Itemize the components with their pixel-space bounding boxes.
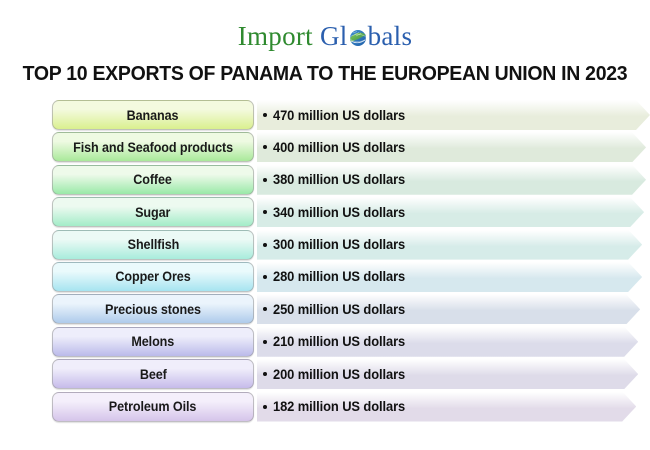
logo-word-import: Import [238, 23, 313, 50]
logo-text: ImportGlbals [238, 23, 413, 50]
export-bar-wrap: 400 million US dollars [257, 132, 650, 162]
export-label-box: Precious stones [52, 294, 254, 324]
export-label-box: Fish and Seafood products [52, 132, 254, 162]
export-label-text: Bananas [127, 108, 179, 123]
export-label-text: Beef [140, 367, 167, 382]
bullet-icon [263, 243, 267, 247]
export-label-box: Petroleum Oils [52, 392, 254, 422]
export-value-label: 280 million US dollars [263, 262, 412, 292]
export-value-label: 200 million US dollars [263, 359, 412, 389]
export-row: Precious stones250 million US dollars [52, 294, 650, 324]
logo-word-gl: Gl [320, 23, 348, 50]
page-title: TOP 10 EXPORTS OF PANAMA TO THE EUROPEAN… [16, 62, 634, 86]
export-value-label: 250 million US dollars [263, 294, 412, 324]
export-value-label: 210 million US dollars [263, 327, 412, 357]
bullet-icon [263, 405, 267, 409]
export-label-box: Beef [52, 359, 254, 389]
export-value-label: 182 million US dollars [263, 392, 412, 422]
export-value-text: 280 million US dollars [273, 269, 405, 284]
export-label-box: Copper Ores [52, 262, 254, 292]
export-label-text: Fish and Seafood products [73, 140, 233, 155]
export-value-text: 380 million US dollars [273, 172, 405, 187]
export-bar-wrap: 280 million US dollars [257, 262, 650, 292]
export-label-text: Sugar [135, 205, 170, 220]
export-row: Melons210 million US dollars [52, 327, 650, 357]
export-value-text: 470 million US dollars [273, 108, 405, 123]
export-value-label: 300 million US dollars [263, 230, 412, 260]
bullet-icon [263, 178, 267, 182]
export-value-text: 300 million US dollars [273, 237, 405, 252]
export-row: Coffee380 million US dollars [52, 165, 650, 195]
export-bar-wrap: 470 million US dollars [257, 100, 650, 130]
export-bar-wrap: 182 million US dollars [257, 392, 650, 422]
export-label-text: Petroleum Oils [109, 399, 197, 414]
bullet-icon [263, 340, 267, 344]
export-row: Bananas470 million US dollars [52, 100, 650, 130]
bullet-icon [263, 210, 267, 214]
export-value-label: 380 million US dollars [263, 165, 412, 195]
export-row: Shellfish300 million US dollars [52, 230, 650, 260]
export-label-box: Bananas [52, 100, 254, 130]
export-label-box: Melons [52, 327, 254, 357]
globe-icon [348, 26, 368, 46]
export-label-box: Coffee [52, 165, 254, 195]
export-label-box: Sugar [52, 197, 254, 227]
export-value-text: 340 million US dollars [273, 205, 405, 220]
export-label-text: Shellfish [127, 237, 179, 252]
export-label-text: Copper Ores [115, 269, 190, 284]
export-row: Sugar340 million US dollars [52, 197, 650, 227]
bullet-icon [263, 275, 267, 279]
export-label-text: Precious stones [105, 302, 201, 317]
export-row: Petroleum Oils182 million US dollars [52, 392, 650, 422]
export-label-box: Shellfish [52, 230, 254, 260]
export-rows-list: Bananas470 million US dollarsFish and Se… [0, 100, 650, 422]
export-label-text: Melons [132, 334, 175, 349]
bullet-icon [263, 145, 267, 149]
export-bar-wrap: 380 million US dollars [257, 165, 650, 195]
bullet-icon [263, 113, 267, 117]
bullet-icon [263, 307, 267, 311]
export-value-text: 200 million US dollars [273, 367, 405, 382]
export-bar-wrap: 300 million US dollars [257, 230, 650, 260]
export-value-text: 182 million US dollars [273, 399, 405, 414]
export-bar-wrap: 210 million US dollars [257, 327, 650, 357]
export-value-label: 470 million US dollars [263, 100, 412, 130]
bullet-icon [263, 372, 267, 376]
export-value-label: 340 million US dollars [263, 197, 412, 227]
export-row: Fish and Seafood products400 million US … [52, 132, 650, 162]
export-bar-wrap: 200 million US dollars [257, 359, 650, 389]
export-value-label: 400 million US dollars [263, 132, 412, 162]
export-bar-wrap: 340 million US dollars [257, 197, 650, 227]
export-row: Copper Ores280 million US dollars [52, 262, 650, 292]
logo-word-bals: bals [368, 23, 413, 50]
export-bar-wrap: 250 million US dollars [257, 294, 650, 324]
export-label-text: Coffee [134, 172, 173, 187]
infographic-canvas: ImportGlbals TOP 10 EXPORTS OF PANAMA TO… [0, 0, 650, 450]
export-value-text: 210 million US dollars [273, 334, 405, 349]
export-row: Beef200 million US dollars [52, 359, 650, 389]
export-value-text: 250 million US dollars [273, 302, 405, 317]
export-value-text: 400 million US dollars [273, 140, 405, 155]
brand-logo: ImportGlbals [0, 0, 650, 58]
